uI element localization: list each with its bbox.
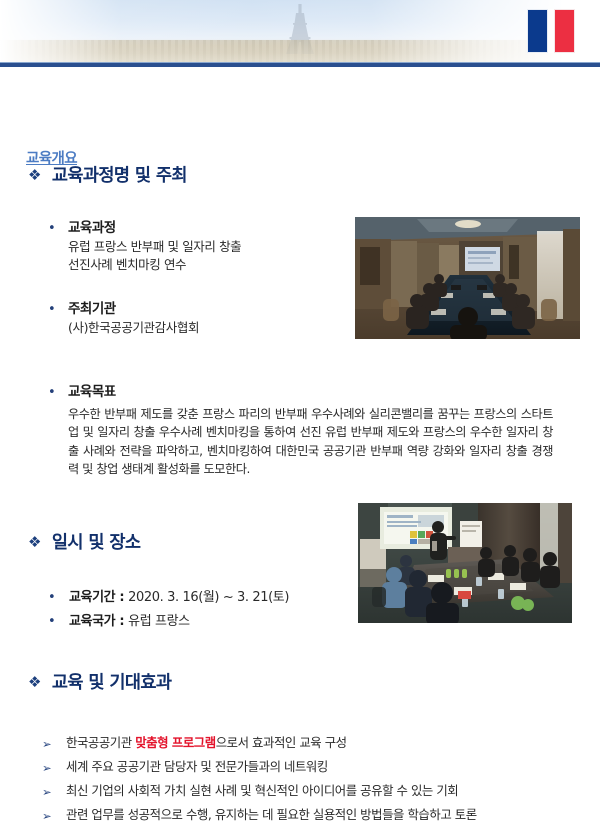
photo-meeting-image xyxy=(355,217,580,339)
diamond-bullet-icon: ❖ xyxy=(28,535,41,550)
effect-1-post: 으로서 효과적인 교육 구성 xyxy=(216,735,347,750)
dot-bullet-icon: • xyxy=(48,590,69,605)
page-header xyxy=(0,0,600,67)
list-item-effect-4: ➢ 관련 업무를 성공적으로 수행, 유지하는 데 필요한 실용적인 방법들을 … xyxy=(42,806,477,824)
arrow-bullet-icon: ➢ xyxy=(42,783,66,801)
section-heading-overview: ❖ 교육과정명 및 주최 xyxy=(28,162,187,187)
effect-1-pre: 한국공공기관 xyxy=(66,735,135,750)
diamond-bullet-icon: ❖ xyxy=(28,168,41,183)
country-label: 교육국가 : xyxy=(69,610,124,629)
flag-blue-band xyxy=(527,9,548,53)
list-item-course-line-2: 선진사례 벤치마킹 연수 xyxy=(68,256,348,274)
dot-bullet-icon: • xyxy=(48,614,69,629)
french-flag xyxy=(527,9,575,53)
section-heading-datetime-label: 일시 및 장소 xyxy=(52,529,141,554)
effect-1-highlight: 맞춤형 프로그램 xyxy=(135,735,216,750)
banner-fade-overlay xyxy=(0,0,600,62)
list-item-host: • 주최기관 (사)한국공공기관감사협회 xyxy=(48,300,348,337)
period-label: 교육기간 : xyxy=(69,586,124,605)
list-item-effect-3-text: 최신 기업의 사회적 가치 실현 사례 및 혁신적인 아이디어를 공유할 수 있… xyxy=(66,782,458,800)
list-item-effect-2-text: 세계 주요 공공기관 담당자 및 전문가들과의 네트워킹 xyxy=(66,758,328,776)
period-value: 2020. 3. 16(월) ~ 3. 21(토) xyxy=(128,586,289,605)
arrow-bullet-icon: ➢ xyxy=(42,759,66,777)
list-item-effect-4-text: 관련 업무를 성공적으로 수행, 유지하는 데 필요한 실용적인 방법들을 학습… xyxy=(66,806,477,824)
section-heading-datetime: ❖ 일시 및 장소 xyxy=(28,529,140,554)
section-heading-effects-label: 교육 및 기대효과 xyxy=(52,669,172,694)
country-value: 유럽 프랑스 xyxy=(128,610,190,629)
list-item-goal-title: 교육목표 xyxy=(68,383,553,402)
arrow-bullet-icon: ➢ xyxy=(42,735,66,753)
photo-seminar-image xyxy=(358,503,572,623)
dot-bullet-icon: • xyxy=(48,384,68,401)
list-item-country: • 교육국가 : 유럽 프랑스 xyxy=(48,610,190,629)
list-item-host-body: 주최기관 (사)한국공공기관감사협회 xyxy=(68,300,348,337)
list-item-host-line-1: (사)한국공공기관감사협회 xyxy=(68,319,348,337)
goal-paragraph: 우수한 반부패 제도를 갖춘 프랑스 파리의 반부패 우수사례와 실리콘밸리를 … xyxy=(68,405,553,479)
list-item-course-line-1: 유럽 프랑스 반부패 및 일자리 창출 xyxy=(68,238,348,256)
diamond-bullet-icon: ❖ xyxy=(28,675,41,690)
page-content: 교육개요 ❖ 교육과정명 및 주최 • 교육과정 유럽 프랑스 반부패 및 일자… xyxy=(0,67,600,800)
arrow-bullet-icon: ➢ xyxy=(42,807,66,825)
section-heading-effects: ❖ 교육 및 기대효과 xyxy=(28,669,171,694)
list-item-period: • 교육기간 : 2020. 3. 16(월) ~ 3. 21(토) xyxy=(48,586,289,605)
list-item-course-body: 교육과정 유럽 프랑스 반부패 및 일자리 창출 선진사례 벤치마킹 연수 xyxy=(68,219,348,274)
list-item-host-title: 주최기관 xyxy=(68,300,348,319)
header-banner-image xyxy=(0,0,600,62)
photo-meeting xyxy=(355,217,580,339)
list-item-effect-1: ➢ 한국공공기관 맞춤형 프로그램으로서 효과적인 교육 구성 xyxy=(42,734,347,752)
section-heading-overview-label: 교육과정명 및 주최 xyxy=(52,162,187,187)
list-item-effect-3: ➢ 최신 기업의 사회적 가치 실현 사례 및 혁신적인 아이디어를 공유할 수… xyxy=(42,782,458,800)
list-item-effect-2: ➢ 세계 주요 공공기관 담당자 및 전문가들과의 네트워킹 xyxy=(42,758,328,776)
list-item-course: • 교육과정 유럽 프랑스 반부패 및 일자리 창출 선진사례 벤치마킹 연수 xyxy=(48,219,348,274)
list-item-course-title: 교육과정 xyxy=(68,219,348,238)
list-item-goal: • 교육목표 우수한 반부패 제도를 갖춘 프랑스 파리의 반부패 우수사례와 … xyxy=(48,383,553,479)
photo-seminar xyxy=(358,503,572,623)
dot-bullet-icon: • xyxy=(48,301,68,318)
flag-red-band xyxy=(554,9,575,53)
list-item-effect-1-text: 한국공공기관 맞춤형 프로그램으로서 효과적인 교육 구성 xyxy=(66,734,347,752)
list-item-goal-body: 교육목표 우수한 반부패 제도를 갖춘 프랑스 파리의 반부패 우수사례와 실리… xyxy=(68,383,553,479)
dot-bullet-icon: • xyxy=(48,220,68,237)
